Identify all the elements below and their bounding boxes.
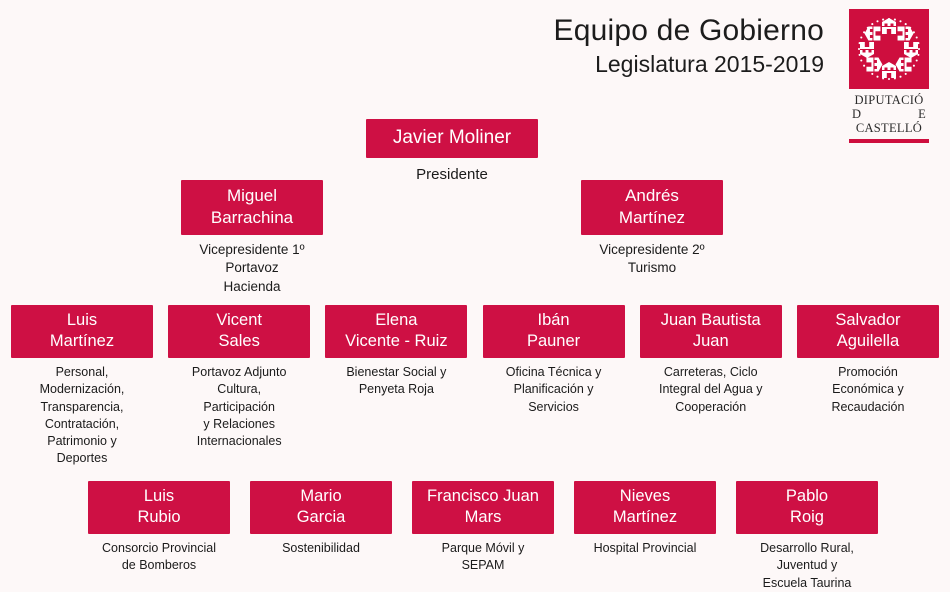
org-node-name-box[interactable]: PabloRoig (736, 481, 878, 534)
logo-line-castello: CASTELLÓ (849, 121, 929, 135)
title-block: Equipo de Gobierno Legislatura 2015-2019 (554, 14, 824, 77)
name-line: Ibán (489, 310, 619, 331)
org-node-role: Presidente (366, 165, 538, 186)
role-line: Escuela Taurina (736, 575, 878, 592)
org-node-vicepresident-2[interactable]: AndrésMartínez Vicepresidente 2ºTurismo (581, 180, 723, 278)
logo-line-diputacio: DIPUTACIÓ (849, 93, 929, 107)
org-node-deputy[interactable]: VicentSales Portavoz AdjuntoCultura,Part… (168, 305, 310, 468)
name-line: Rubio (94, 507, 224, 528)
role-line: Vicepresidente 2º (581, 241, 723, 260)
org-node-role: Parque Móvil ySEPAM (412, 540, 554, 575)
page-subtitle: Legislatura 2015-2019 (554, 51, 824, 77)
org-node-deputy[interactable]: IbánPauner Oficina Técnica yPlanificació… (483, 305, 625, 468)
org-node-name-box[interactable]: ElenaVicente - Ruiz (325, 305, 467, 358)
role-line: Contratación, (11, 416, 153, 433)
role-line: Recaudación (797, 399, 939, 416)
role-line: Promoción (797, 364, 939, 381)
name-line: Martínez (17, 331, 147, 352)
role-line: Deportes (11, 450, 153, 467)
role-line: Económica y (797, 381, 939, 398)
name-line: Salvador (803, 310, 933, 331)
role-line: de Bomberos (88, 557, 230, 574)
role-line: Parque Móvil y (412, 540, 554, 557)
role-line: Carreteras, Ciclo (640, 364, 782, 381)
name-line: Vicente - Ruiz (331, 331, 461, 352)
name-line: Juan (646, 331, 776, 352)
role-line: Sostenibilidad (250, 540, 392, 557)
org-node-name-box[interactable]: Javier Moliner (366, 119, 538, 158)
name-line: Garcia (256, 507, 386, 528)
org-node-role: PromociónEconómica yRecaudación (797, 364, 939, 416)
org-node-deputy[interactable]: LuisMartínez Personal,Modernización,Tran… (11, 305, 153, 468)
org-node-role: Hospital Provincial (574, 540, 716, 557)
name-line: Javier Moliner (372, 126, 532, 150)
role-line: Participación (168, 399, 310, 416)
org-node-role: Sostenibilidad (250, 540, 392, 557)
org-node-name-box[interactable]: AndrésMartínez (581, 180, 723, 235)
org-row-delegates: LuisRubio Consorcio Provincialde Bombero… (88, 481, 878, 592)
org-node-name-box[interactable]: Francisco JuanMars (412, 481, 554, 534)
role-line: y Relaciones (168, 416, 310, 433)
org-node-deputy[interactable]: ElenaVicente - Ruiz Bienestar Social yPe… (325, 305, 467, 468)
name-line: Pauner (489, 331, 619, 352)
role-line: Turismo (581, 259, 723, 278)
org-node-deputy[interactable]: SalvadorAguilella PromociónEconómica yRe… (797, 305, 939, 468)
role-line: Bienestar Social y (325, 364, 467, 381)
name-line: Barrachina (187, 207, 317, 229)
name-line: Luis (94, 486, 224, 507)
name-line: Miguel (187, 185, 317, 207)
name-line: Martínez (580, 507, 710, 528)
org-node-role: Portavoz AdjuntoCultura,Participacióny R… (168, 364, 310, 450)
org-node-name-box[interactable]: NievesMartínez (574, 481, 716, 534)
org-node-role: Desarrollo Rural,Juventud yEscuela Tauri… (736, 540, 878, 592)
org-node-role: Carreteras, CicloIntegral del Agua yCoop… (640, 364, 782, 416)
org-node-role: Bienestar Social yPenyeta Roja (325, 364, 467, 399)
role-line: Cooperación (640, 399, 782, 416)
role-line: Integral del Agua y (640, 381, 782, 398)
role-line: Planificación y (483, 381, 625, 398)
org-node-name-box[interactable]: Juan BautistaJuan (640, 305, 782, 358)
role-line: Vicepresidente 1º (181, 241, 323, 260)
role-line: Penyeta Roja (325, 381, 467, 398)
logo-letter-d: D (852, 107, 861, 121)
name-line: Vicent (174, 310, 304, 331)
role-line: Portavoz Adjunto (168, 364, 310, 381)
name-line: Luis (17, 310, 147, 331)
org-node-name-box[interactable]: MarioGarcia (250, 481, 392, 534)
org-node-name-box[interactable]: LuisMartínez (11, 305, 153, 358)
role-line: Hacienda (181, 278, 323, 297)
name-line: Nieves (580, 486, 710, 507)
logo-letter-e: E (918, 107, 926, 121)
org-node-role: Consorcio Provincialde Bomberos (88, 540, 230, 575)
role-line: Desarrollo Rural, (736, 540, 878, 557)
org-node-role: Vicepresidente 1ºPortavozHacienda (181, 241, 323, 297)
role-line: Cultura, (168, 381, 310, 398)
org-node-name-box[interactable]: SalvadorAguilella (797, 305, 939, 358)
name-line: Roig (742, 507, 872, 528)
name-line: Sales (174, 331, 304, 352)
role-line: Personal, (11, 364, 153, 381)
role-line: SEPAM (412, 557, 554, 574)
org-node-delegate[interactable]: LuisRubio Consorcio Provincialde Bombero… (88, 481, 230, 592)
name-line: Mario (256, 486, 386, 507)
name-line: Mars (418, 507, 548, 528)
org-node-president[interactable]: Javier Moliner Presidente (366, 119, 538, 186)
diputacio-castello-logo: DIPUTACIÓ D E CASTELLÓ (849, 9, 929, 143)
org-node-role: Personal,Modernización,Transparencia,Con… (11, 364, 153, 468)
name-line: Pablo (742, 486, 872, 507)
org-node-delegate[interactable]: MarioGarcia Sostenibilidad (250, 481, 392, 592)
role-line: Oficina Técnica y (483, 364, 625, 381)
name-line: Elena (331, 310, 461, 331)
role-line: Modernización, (11, 381, 153, 398)
org-node-name-box[interactable]: MiguelBarrachina (181, 180, 323, 235)
role-line: Hospital Provincial (574, 540, 716, 557)
role-line: Juventud y (736, 557, 878, 574)
castello-crest-icon (849, 9, 929, 89)
name-line: Aguilella (803, 331, 933, 352)
org-row-deputies: LuisMartínez Personal,Modernización,Tran… (11, 305, 939, 468)
org-node-role: Vicepresidente 2ºTurismo (581, 241, 723, 278)
role-line: Consorcio Provincial (88, 540, 230, 557)
org-node-delegate[interactable]: NievesMartínez Hospital Provincial (574, 481, 716, 592)
org-node-name-box[interactable]: LuisRubio (88, 481, 230, 534)
name-line: Martínez (587, 207, 717, 229)
org-node-delegate[interactable]: Francisco JuanMars Parque Móvil ySEPAM (412, 481, 554, 592)
name-line: Francisco Juan (418, 486, 548, 507)
org-node-name-box[interactable]: VicentSales (168, 305, 310, 358)
logo-wordmark: DIPUTACIÓ D E CASTELLÓ (849, 93, 929, 135)
logo-line-de: D E (849, 107, 929, 121)
org-node-vicepresident-1[interactable]: MiguelBarrachina Vicepresidente 1ºPortav… (181, 180, 323, 296)
role-line: Transparencia, (11, 399, 153, 416)
name-line: Juan Bautista (646, 310, 776, 331)
logo-underline-rule (849, 139, 929, 143)
org-node-delegate[interactable]: PabloRoig Desarrollo Rural,Juventud yEsc… (736, 481, 878, 592)
page-title: Equipo de Gobierno (554, 14, 824, 48)
role-line: Presidente (366, 165, 538, 186)
role-line: Portavoz (181, 259, 323, 278)
role-line: Internacionales (168, 433, 310, 450)
role-line: Patrimonio y (11, 433, 153, 450)
name-line: Andrés (587, 185, 717, 207)
org-node-name-box[interactable]: IbánPauner (483, 305, 625, 358)
role-line: Servicios (483, 399, 625, 416)
org-node-deputy[interactable]: Juan BautistaJuan Carreteras, CicloInteg… (640, 305, 782, 468)
org-node-role: Oficina Técnica yPlanificación yServicio… (483, 364, 625, 416)
